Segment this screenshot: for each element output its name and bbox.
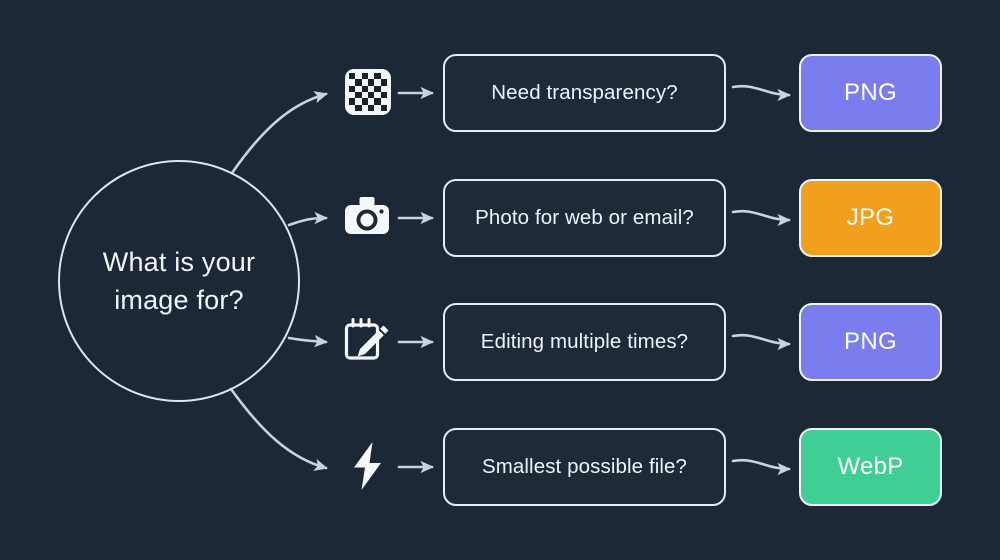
lightning-bolt-icon — [340, 436, 396, 496]
question-box-4[interactable]: Smallest possible file? — [443, 428, 726, 506]
question-box-3[interactable]: Editing multiple times? — [443, 303, 726, 381]
question-box-1-label: Need transparency? — [491, 81, 677, 105]
camera-icon — [340, 187, 396, 247]
result-badge-3-label: PNG — [844, 328, 897, 356]
branch-row-2: Photo for web or email? JPG — [0, 179, 1000, 257]
question-box-2[interactable]: Photo for web or email? — [443, 179, 726, 257]
result-badge-4[interactable]: WebP — [799, 428, 942, 506]
branch-row-4: Smallest possible file? WebP — [0, 428, 1000, 506]
result-badge-2-label: JPG — [847, 204, 895, 232]
checkerboard-transparency-icon — [340, 62, 396, 122]
notepad-pencil-edit-icon — [340, 311, 396, 371]
result-badge-1[interactable]: PNG — [799, 54, 942, 132]
question-box-3-label: Editing multiple times? — [481, 330, 688, 354]
question-box-1[interactable]: Need transparency? — [443, 54, 726, 132]
branch-row-1: Need transparency? PNG — [0, 54, 1000, 132]
question-box-4-label: Smallest possible file? — [482, 455, 687, 479]
question-box-2-label: Photo for web or email? — [475, 206, 694, 230]
result-badge-1-label: PNG — [844, 79, 897, 107]
flowchart-canvas: What is your image for? Need transparenc… — [0, 0, 1000, 560]
branch-row-3: Editing multiple times? PNG — [0, 303, 1000, 381]
result-badge-4-label: WebP — [837, 453, 903, 481]
result-badge-2[interactable]: JPG — [799, 179, 942, 257]
result-badge-3[interactable]: PNG — [799, 303, 942, 381]
